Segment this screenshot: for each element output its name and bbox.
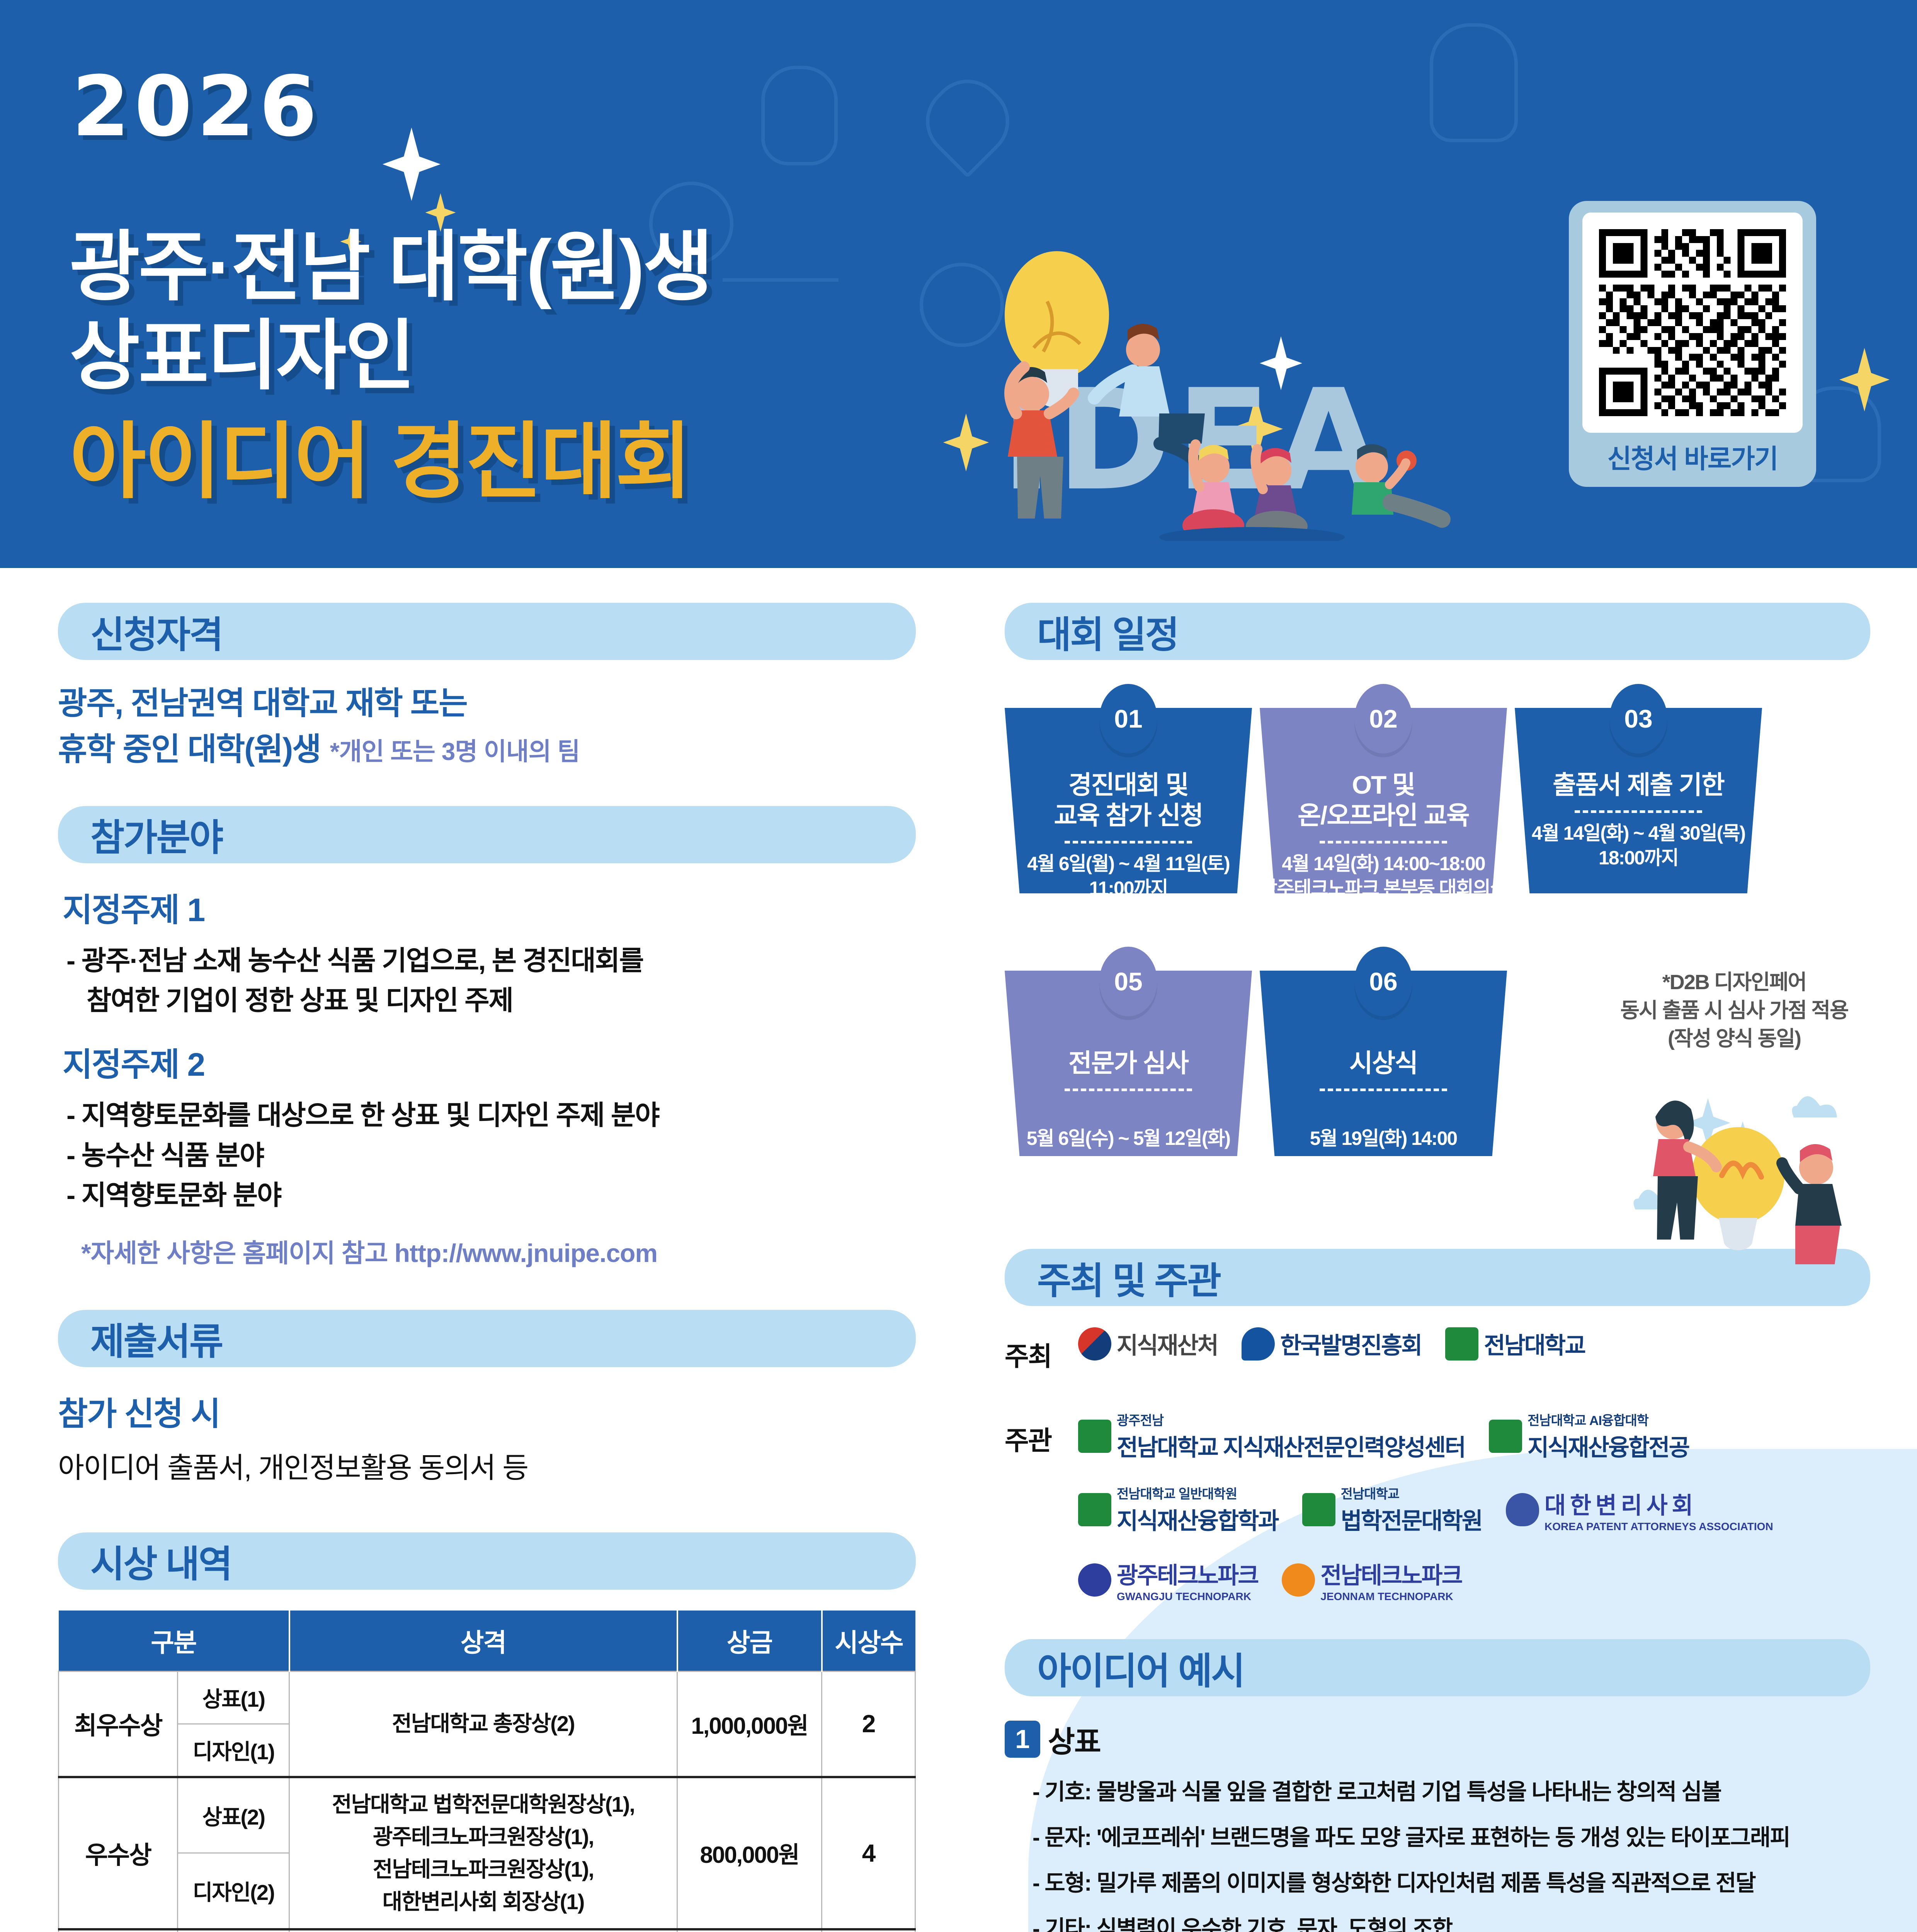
step-05-date: 5월 6일(수) ~ 5월 12일(화) (1005, 1126, 1252, 1151)
topic1-title: 지정주제 1 (63, 884, 916, 931)
award-subcategory: 상표(2) (178, 1777, 289, 1853)
documents-subheading: 참가 신청 시 (58, 1388, 916, 1435)
qr-card[interactable]: 신청서 바로가기 (1569, 201, 1816, 487)
step-06-title: 시상식 (1260, 1048, 1507, 1078)
col-prize-money: 상금 (677, 1611, 822, 1672)
logo-english: GWANGJU TECHNOPARK (1117, 1590, 1258, 1603)
example-item: - 기타: 식별력이 우수한 기호, 문자, 도형의 조합 (1032, 1910, 1870, 1932)
logo-subtitle: 전남대학교 AI융합대학 (1527, 1410, 1689, 1429)
qr-code-image[interactable] (1582, 213, 1803, 433)
logo-text: 광주전남전남대학교 지식재산전문인력양성센터 (1117, 1410, 1465, 1463)
logo-mark-icon (1078, 1327, 1111, 1361)
logo-mark-icon (1078, 1420, 1111, 1453)
schedule-row-2: 전문가 심사 5월 6일(수) ~ 5월 12일(화) 05 시상식 5월 19… (1005, 944, 1870, 1183)
award-description: 전남대학교 총장상(2) (289, 1671, 677, 1777)
section-header-documents: 제출서류 (58, 1310, 916, 1367)
managers-logo-list: 광주전남전남대학교 지식재산전문인력양성센터전남대학교 AI융합대학지식재산융합… (1078, 1410, 1859, 1624)
documents-body: 아이디어 출품서, 개인정보활용 동의서 등 (58, 1445, 916, 1486)
logo-전남대학교-지식재산전문인력양성센터: 광주전남전남대학교 지식재산전문인력양성센터 (1078, 1410, 1465, 1463)
example-item: - 도형: 밀가루 제품의 이미지를 형상화한 디자인처럼 제품 특성을 직관적… (1032, 1865, 1870, 1897)
section-header-awards: 시상 내역 (58, 1532, 916, 1590)
topic2-item-1: - 농수산 식품 분야 (66, 1136, 916, 1176)
schedule-heading: 대회 일정 (1037, 605, 1178, 658)
section-header-schedule: 대회 일정 (1005, 603, 1870, 660)
brain-doodle-icon (761, 66, 838, 165)
step-06-divider (1320, 1088, 1447, 1091)
logo-대-한-변-리-사-회: 대 한 변 리 사 회KOREA PATENT ATTORNEYS ASSOCI… (1506, 1487, 1773, 1533)
topic1-line2: 참여한 기업이 정한 상표 및 디자인 주제 (87, 981, 916, 1021)
example-item: - 문자: '에코프레쉬' 브랜드명을 파도 모양 글자로 표현하는 등 개성 … (1032, 1819, 1870, 1852)
poster-title-line2: 상표디자인 (70, 294, 414, 405)
award-description: 전남대학교 광주/전남 지식재산전문인력양성센터장상(2) (289, 1929, 677, 1932)
awards-table: 구분 상격 상금 시상수 최우수상상표(1)전남대학교 총장상(2)1,000,… (58, 1611, 916, 1932)
logo-광주테크노파크: 광주테크노파크GWANGJU TECHNOPARK (1078, 1557, 1258, 1603)
organizers-heading: 주최 및 주관 (1037, 1251, 1220, 1304)
schedule-row-1: 경진대회 및교육 참가 신청 4월 6일(월) ~ 4월 11일(토)11:00… (1005, 681, 1870, 897)
step-03-date: 4월 14일(화) ~ 4월 30일(목)18:00까지 (1515, 821, 1762, 870)
poster-header: 2026 광주·전남 대학(원)생 상표디자인 아이디어 경진대회 IDEA (0, 0, 1917, 568)
step-01-date: 4월 6일(월) ~ 4월 11일(토)11:00까지 (1005, 851, 1252, 901)
managers-row: 주관 광주전남전남대학교 지식재산전문인력양성센터전남대학교 AI융합대학지식재… (1005, 1410, 1870, 1624)
right-column: 대회 일정 경진대회 및교육 참가 신청 4월 6일(월) ~ 4월 11일(토… (1005, 603, 1870, 1932)
logo-text: 전남대학교 AI융합대학지식재산융합전공 (1527, 1410, 1689, 1463)
qr-label: 신청서 바로가기 (1607, 437, 1778, 476)
eligibility-heading: 신청자격 (90, 605, 222, 658)
example-number-badge: 1 (1005, 1721, 1040, 1758)
step-05-title: 전문가 심사 (1005, 1048, 1252, 1078)
section-header-fields: 참가분야 (58, 806, 916, 863)
poster-title-line3: 아이디어 경진대회 (70, 394, 690, 514)
step-02-divider (1320, 841, 1447, 844)
logo-지식재산처: 지식재산처 (1078, 1327, 1218, 1361)
awards-heading: 시상 내역 (90, 1534, 231, 1588)
logo-english: JEONNAM TECHNOPARK (1320, 1590, 1461, 1603)
logo-subtitle: 전남대학교 (1341, 1483, 1482, 1502)
award-prize: 500,000원 (677, 1929, 822, 1932)
logo-전남대학교: 전남대학교 (1445, 1327, 1585, 1361)
award-count: 2 (822, 1929, 915, 1932)
award-count: 4 (822, 1777, 915, 1929)
col-prize-name: 상격 (289, 1611, 677, 1672)
award-subcategory: 디자인(2) (178, 1853, 289, 1929)
award-subcategory: 상표(1) (178, 1929, 289, 1932)
eligibility-line2: 휴학 중인 대학(원)생 (58, 727, 321, 773)
step-01-divider (1065, 841, 1192, 844)
logo-mark-icon (1078, 1493, 1111, 1526)
table-row: 우수상상표(2)전남대학교 법학전문대학원장상(1),광주테크노파크원장상(1)… (59, 1777, 915, 1853)
award-subcategory: 상표(1) (178, 1671, 289, 1724)
logo-subtitle: 전남대학교 일반대학원 (1117, 1483, 1278, 1502)
topic2-item-2: - 지역향토문화 분야 (66, 1175, 916, 1216)
example-group-title: 상표 (1048, 1718, 1101, 1760)
col-count: 시상수 (822, 1611, 915, 1672)
step-03-divider (1575, 810, 1702, 813)
step-05-badge: 05 (1099, 947, 1157, 1016)
logo-mark-icon (1302, 1493, 1335, 1526)
topic2-item-0: - 지역향토문화를 대상으로 한 상표 및 디자인 주제 분야 (66, 1095, 916, 1136)
hosts-logo-list: 지식재산처한국발명진흥회전남대학교 (1078, 1327, 1609, 1381)
logo-text: 전남테크노파크JEONNAM TECHNOPARK (1320, 1557, 1461, 1603)
logo-지식재산융합학과: 전남대학교 일반대학원지식재산융합학과 (1078, 1483, 1278, 1536)
example-group-header: 1상표 (1005, 1718, 1870, 1760)
logo-text: 대 한 변 리 사 회KOREA PATENT ATTORNEYS ASSOCI… (1544, 1487, 1773, 1533)
topic2-title: 지정주제 2 (63, 1039, 916, 1085)
table-row: 장려상상표(1)전남대학교 광주/전남 지식재산전문인력양성센터장상(2)500… (59, 1929, 915, 1932)
logo-mark-icon (1445, 1327, 1478, 1361)
heart-doodle-icon (911, 65, 1024, 178)
example-item: - 기호: 물방울과 식물 잎을 결합한 로고처럼 기업 특성을 나타내는 창의… (1032, 1774, 1870, 1806)
step-02-title: OT 및온/오프라인 교육 (1260, 770, 1507, 831)
logo-법학전문대학원: 전남대학교법학전문대학원 (1302, 1483, 1482, 1536)
step-03-title: 출품서 제출 기한 (1515, 770, 1762, 800)
sparkle-icon-8 (1839, 348, 1890, 412)
table-row: 최우수상상표(1)전남대학교 총장상(2)1,000,000원2 (59, 1671, 915, 1724)
section-header-examples: 아이디어 예시 (1005, 1639, 1870, 1696)
award-description: 전남대학교 법학전문대학원장상(1),광주테크노파크원장상(1),전남테크노파크… (289, 1777, 677, 1929)
manager-label: 주관 (1005, 1410, 1078, 1458)
fields-heading: 참가분야 (90, 808, 222, 861)
logo-text: 전남대학교 (1484, 1327, 1585, 1361)
eligibility-note: *개인 또는 3명 이내의 팀 (330, 732, 580, 767)
bulb-doodle-icon (1430, 23, 1518, 142)
award-category: 장려상 (59, 1929, 178, 1932)
section-header-eligibility: 신청자격 (58, 603, 916, 660)
award-category: 우수상 (59, 1777, 178, 1929)
poster-year: 2026 (72, 58, 321, 155)
logo-mark-icon (1078, 1563, 1111, 1597)
awards-table-body: 최우수상상표(1)전남대학교 총장상(2)1,000,000원2디자인(1)우수… (59, 1671, 915, 1932)
step-03-badge: 03 (1609, 684, 1667, 753)
logo-text: 전남대학교법학전문대학원 (1341, 1483, 1482, 1536)
step-06-badge: 06 (1354, 947, 1412, 1016)
homepage-note[interactable]: *자세한 사항은 홈페이지 참고 http://www.jnuipe.com (81, 1233, 916, 1270)
award-prize: 800,000원 (677, 1777, 822, 1929)
logo-mark-icon (1242, 1327, 1275, 1361)
logo-text: 지식재산처 (1117, 1327, 1218, 1361)
logo-mark-icon (1282, 1563, 1315, 1597)
award-prize: 1,000,000원 (677, 1671, 822, 1777)
logo-한국발명진흥회: 한국발명진흥회 (1242, 1327, 1421, 1361)
logo-text: 광주테크노파크GWANGJU TECHNOPARK (1117, 1557, 1258, 1603)
col-category: 구분 (59, 1611, 289, 1672)
left-column: 신청자격 광주, 전남권역 대학교 재학 또는 휴학 중인 대학(원)생 *개인… (58, 603, 916, 1932)
eligibility-line1: 광주, 전남권역 대학교 재학 또는 (58, 681, 916, 727)
logo-english: KOREA PATENT ATTORNEYS ASSOCIATION (1544, 1520, 1773, 1533)
logo-subtitle: 광주전남 (1117, 1410, 1465, 1429)
step-05-divider (1065, 1088, 1192, 1091)
step-02-date: 4월 14일(화) 14:00~18:00광주테크노파크 본부동 대회의실 (1260, 851, 1507, 901)
step-02-badge: 02 (1354, 684, 1412, 753)
step-01-title: 경진대회 및교육 참가 신청 (1005, 770, 1252, 831)
logo-text: 전남대학교 일반대학원지식재산융합학과 (1117, 1483, 1278, 1536)
bulb-people-illustration (1615, 1071, 1863, 1264)
logo-전남테크노파크: 전남테크노파크JEONNAM TECHNOPARK (1282, 1557, 1461, 1603)
table-header-row: 구분 상격 상금 시상수 (59, 1611, 915, 1672)
idea-illustration: IDEA (958, 232, 1499, 541)
examples-heading: 아이디어 예시 (1037, 1641, 1244, 1695)
documents-heading: 제출서류 (90, 1311, 222, 1365)
logo-mark-icon (1489, 1420, 1522, 1453)
divider-doodle (723, 278, 839, 282)
examples-list: 1상표- 기호: 물방울과 식물 잎을 결합한 로고처럼 기업 특성을 나타내는… (1005, 1718, 1870, 1932)
logo-mark-icon (1506, 1493, 1539, 1526)
step-01-badge: 01 (1099, 684, 1157, 753)
award-category: 최우수상 (59, 1671, 178, 1777)
logo-지식재산융합전공: 전남대학교 AI융합대학지식재산융합전공 (1489, 1410, 1689, 1463)
hosts-row: 주최 지식재산처한국발명진흥회전남대학교 (1005, 1327, 1870, 1381)
host-label: 주최 (1005, 1335, 1078, 1373)
topic1-line1: - 광주·전남 소재 농수산 식품 기업으로, 본 경진대회를 (66, 941, 916, 981)
d2b-note: *D2B 디자인페어동시 출품 시 심사 가점 적용(작성 양식 동일) (1603, 968, 1866, 1053)
sparkle-icon-1 (383, 128, 441, 201)
award-count: 2 (822, 1671, 915, 1777)
award-subcategory: 디자인(1) (178, 1724, 289, 1777)
step-06-date: 5월 19일(화) 14:00 (1260, 1126, 1507, 1151)
logo-text: 한국발명진흥회 (1280, 1327, 1421, 1361)
